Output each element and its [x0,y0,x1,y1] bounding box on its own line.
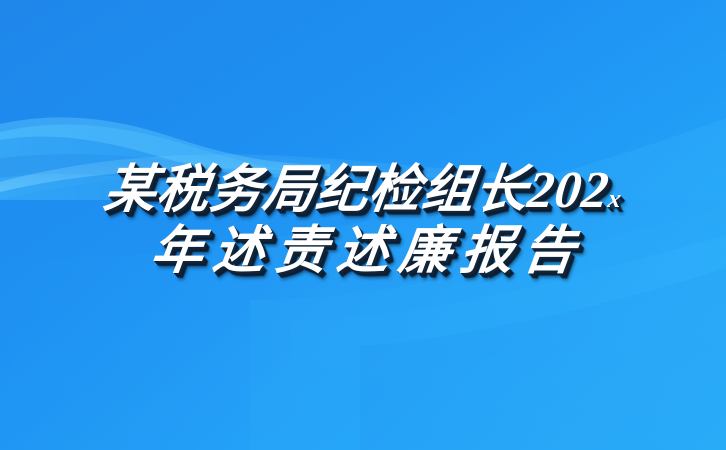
title-line-2: 年述责述廉报告 [138,225,589,278]
title-line-1-text: 某税务局纪检组长202 [100,162,612,219]
title-line-1: 某税务局纪检组长202x [101,164,626,217]
title-block: 某税务局纪检组长202x 年述责述廉报告 [0,0,726,450]
title-year-suffix: x [606,184,623,213]
cover-banner: 某税务局纪检组长202x 年述责述廉报告 [0,0,726,450]
